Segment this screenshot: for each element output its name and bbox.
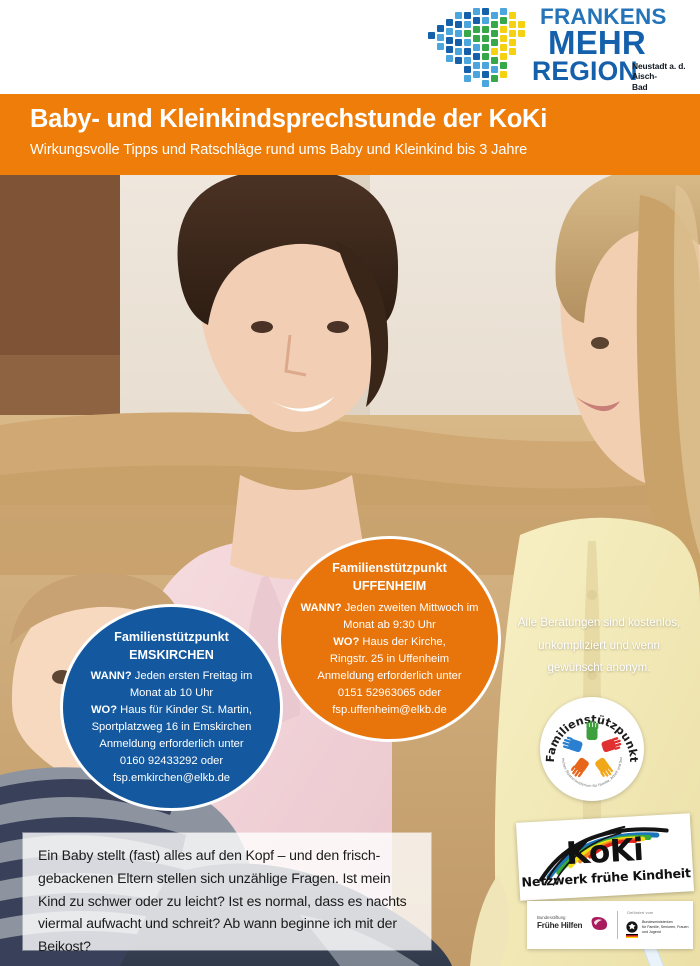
circle-uff-where: WO? Haus der Kirche, — [327, 634, 452, 651]
circle-ems-when-line2: Monat ab 10 Uhr — [124, 685, 219, 702]
circle-uff-where-value: Haus der Kirche, — [359, 636, 445, 648]
circle-ems-phone: 0160 92433292 oder — [114, 753, 229, 770]
poster-title: Baby- und Kleinkindsprechstunde der KoKi — [30, 105, 680, 134]
info-circle-emskirchen[interactable]: Familienstützpunkt EMSKIRCHEN WANN? Jede… — [60, 604, 283, 811]
circle-uff-heading2: UFFENHEIM — [353, 577, 426, 595]
intro-text-box: Ein Baby stellt (fast) alles auf den Kop… — [23, 833, 431, 950]
sponsor-divider — [617, 911, 618, 939]
sponsor-logo-card: Bundesstiftung Frühe Hilfen Gefördert vo… — [527, 901, 693, 949]
circle-ems-where-value: Haus für Kinder St. Martin, — [117, 704, 252, 716]
poster-root: FRANKENS MEHR REGION Neustadt a. d. Aisc… — [0, 0, 700, 966]
circle-uff-phone: 0151 52963065 oder — [332, 685, 447, 702]
frankens-mehr-region-logo: FRANKENS MEHR REGION Neustadt a. d. Aisc… — [424, 4, 692, 90]
circle-uff-when-value: Jeden zweiten Mittwoch im — [342, 602, 479, 614]
top-white-bar: FRANKENS MEHR REGION Neustadt a. d. Aisc… — [0, 0, 700, 94]
intro-paragraph: Ein Baby stellt (fast) alles auf den Kop… — [38, 844, 418, 958]
circle-ems-heading1: Familienstützpunkt — [114, 628, 229, 646]
fruehe-hilfen-mark-icon — [589, 915, 609, 932]
circle-uff-when: WANN? Jeden zweiten Mittwoch im — [295, 600, 485, 617]
circle-uff-email[interactable]: fsp.uffenheim@elkb.de — [326, 702, 452, 719]
circle-ems-where: WO? Haus für Kinder St. Martin, — [85, 702, 258, 719]
circle-ems-heading2: EMSKIRCHEN — [129, 646, 214, 664]
koki-logo-card: KoKi Netzwerk frühe Kindheit — [516, 813, 694, 901]
familienstuetzpunkt-badge: Familienstützpunkt Bayerisches Staatsmin… — [540, 697, 644, 801]
circle-ems-email[interactable]: fsp.emkirchen@elkb.de — [107, 770, 236, 787]
circle-uff-where-label: WO? — [333, 636, 359, 648]
circle-uff-registration: Anmeldung erforderlich unter — [311, 668, 467, 685]
circle-ems-where-line2: Sportplatzweg 16 in Emskirchen — [86, 719, 258, 736]
circle-ems-when: WANN? Jeden ersten Freitag im — [85, 668, 259, 685]
free-note-line2: unkompliziert und wenn — [505, 635, 693, 658]
circle-uff-when-label: WANN? — [301, 602, 342, 614]
bundesadler-eagle-icon — [626, 921, 638, 933]
circle-uff-where-line2: Ringstr. 25 in Uffenheim — [324, 651, 455, 668]
free-note-line3: gewünscht anonym. — [505, 657, 693, 680]
free-consultation-note: Alle Beratungen sind kostenlos, unkompli… — [505, 612, 693, 680]
poster-subtitle: Wirkungsvolle Tipps und Ratschläge rund … — [30, 142, 680, 158]
circle-ems-registration: Anmeldung erforderlich unter — [93, 736, 249, 753]
region-line-region: REGION — [532, 58, 638, 85]
circle-ems-when-value: Jeden ersten Freitag im — [132, 670, 253, 682]
circle-uff-heading1: Familienstützpunkt — [332, 559, 447, 577]
ministry-label: Bundesministerium für Familie, Senioren,… — [642, 920, 692, 936]
region-mosaic-icon — [424, 6, 542, 88]
circle-ems-where-label: WO? — [91, 704, 117, 716]
info-circle-uffenheim[interactable]: Familienstützpunkt UFFENHEIM WANN? Jeden… — [278, 536, 501, 742]
region-line-mehr: MEHR — [548, 26, 646, 59]
circle-uff-when-line2: Monat ab 9:30 Uhr — [337, 617, 442, 634]
sponsor-funded-label: Gefördert vom — [627, 911, 653, 915]
german-flag-icon — [626, 934, 638, 938]
familienstuetzpunkt-hands-badge-icon: Familienstützpunkt Bayerisches Staatsmin… — [540, 697, 644, 801]
orange-header-banner: Baby- und Kleinkindsprechstunde der KoKi… — [0, 94, 700, 175]
circle-ems-when-label: WANN? — [91, 670, 132, 682]
free-note-line1: Alle Beratungen sind kostenlos, — [505, 612, 693, 635]
region-wordmark: FRANKENS MEHR REGION Neustadt a. d. Aisc… — [536, 6, 692, 90]
